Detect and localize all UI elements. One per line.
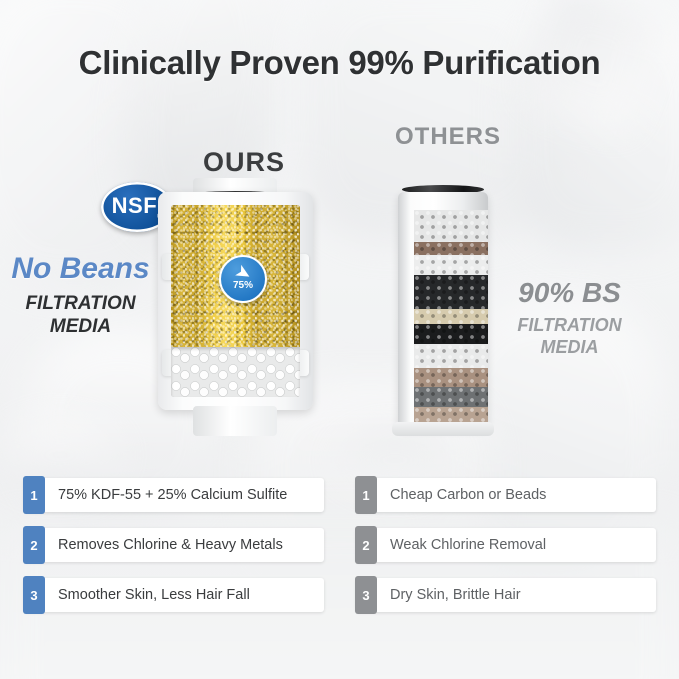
media-layer-calcium-sulfite [171,347,300,397]
feature-number-badge: 2 [23,526,45,564]
media-layer-white-granules [414,210,488,242]
feature-number-badge: 1 [23,476,45,514]
media-layer-white-beads-lower [414,344,488,368]
feature-text: Weak Chlorine Removal [390,537,546,553]
others-tagline-line2: MEDIA [487,336,652,358]
media-layer-dark-charcoal-chunks [414,324,488,343]
feature-number-badge: 1 [355,476,377,514]
media-layer-brown-media [414,242,488,255]
media-layer-tan-beads [414,368,488,387]
feature-row[interactable]: 175% KDF-55 + 25% Calcium Sulfite [24,478,324,512]
others-filter-media-window [414,210,488,426]
feature-row[interactable]: 3Dry Skin, Brittle Hair [356,578,656,612]
ours-filter-bottom-cap [193,406,277,436]
others-feature-list: 1Cheap Carbon or Beads2Weak Chlorine Rem… [356,478,656,628]
ours-feature-list: 175% KDF-55 + 25% Calcium Sulfite2Remove… [24,478,324,628]
ours-tagline-line1: FILTRATION [8,292,153,315]
others-filter-base [392,422,494,436]
feature-row[interactable]: 1Cheap Carbon or Beads [356,478,656,512]
feature-number-badge: 3 [355,576,377,614]
page-title: Clinically Proven 99% Purification [0,44,679,82]
feature-number-badge: 2 [355,526,377,564]
others-tagline-line1: FILTRATION [487,314,652,336]
media-layer-black-carbon [414,275,488,310]
comparison-feature-lists: 175% KDF-55 + 25% Calcium Sulfite2Remove… [0,478,679,623]
others-filter-illustration [390,182,500,444]
feature-text: Dry Skin, Brittle Hair [390,587,521,603]
others-tagline-primary: 90% BS [487,277,652,309]
feature-number-badge: 3 [23,576,45,614]
column-heading-ours: OURS [164,147,324,178]
feature-row[interactable]: 2Removes Chlorine & Heavy Metals [24,528,324,562]
ours-tagline-block: No Beans FILTRATION MEDIA [8,252,153,338]
feature-text: Cheap Carbon or Beads [390,487,546,503]
feature-text: Smoother Skin, Less Hair Fall [58,587,250,603]
media-layer-white-beads [414,255,488,274]
others-tagline-block: 90% BS FILTRATION MEDIA [487,277,652,358]
feature-row[interactable]: 2Weak Chlorine Removal [356,528,656,562]
media-layer-gray-beads [414,387,488,406]
feature-text: Removes Chlorine & Heavy Metals [58,537,283,553]
ours-tagline-line2: MEDIA [8,315,153,338]
others-filter-housing [398,192,488,428]
media-layer-beige-granules [414,309,488,324]
infographic-canvas: Clinically Proven 99% Purification OURS … [0,0,679,679]
ours-tagline-primary: No Beans [8,252,153,286]
ours-filter-illustration [140,178,330,440]
feature-text: 75% KDF-55 + 25% Calcium Sulfite [58,487,287,503]
column-heading-others: OTHERS [368,123,528,151]
media-percentage-badge: ➤ 75% [219,255,267,303]
feature-row[interactable]: 3Smoother Skin, Less Hair Fall [24,578,324,612]
